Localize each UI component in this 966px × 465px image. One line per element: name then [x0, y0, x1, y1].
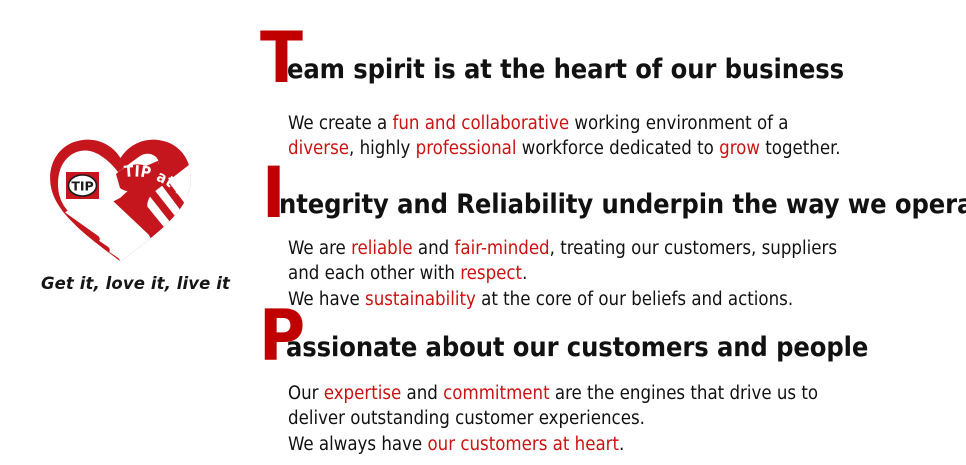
value-heading-text: assionate about our customers and people — [286, 334, 868, 361]
body-text-run: working environment of a — [569, 113, 788, 134]
body-text-run: Our — [288, 383, 324, 404]
highlighted-phrase: fun and collaborative — [392, 113, 569, 134]
value-body: Our expertise and commitment are the eng… — [288, 381, 818, 458]
body-text-run: workforce dedicated to — [516, 138, 719, 159]
value-section-team-spirit: T eam spirit is at the heart of our busi… — [255, 22, 966, 84]
highlighted-phrase: expertise — [324, 383, 401, 404]
tip-logo-block: TIP at heart TIP Get it, love it, live i… — [28, 122, 243, 307]
value-heading-text: eam spirit is at the heart of our busine… — [287, 56, 844, 83]
body-text-run: . — [619, 434, 624, 455]
heart-handshake-logo: TIP at heart TIP — [28, 122, 243, 267]
body-text-run: , highly — [349, 138, 416, 159]
heart-handshake-icon: TIP at heart TIP — [28, 122, 243, 267]
value-heading: I ntegrity and Reliability underpin the … — [255, 157, 966, 219]
highlighted-phrase: professional — [416, 138, 517, 159]
body-text-run: We create a — [288, 113, 392, 134]
tip-badge-label: TIP — [71, 179, 93, 194]
value-heading: P assionate about our customers and peop… — [255, 300, 966, 362]
highlighted-phrase: reliable — [351, 238, 413, 259]
tip-badge: TIP — [66, 172, 99, 199]
values-list: T eam spirit is at the heart of our busi… — [255, 0, 966, 465]
value-body: We create a fun and collaborative workin… — [288, 111, 841, 162]
highlighted-phrase: respect — [460, 263, 522, 284]
highlighted-phrase: grow — [719, 138, 760, 159]
value-heading: T eam spirit is at the heart of our busi… — [255, 22, 966, 84]
highlighted-phrase: commitment — [443, 383, 549, 404]
body-text-run: We are — [288, 238, 351, 259]
logo-tagline: Get it, love it, live it — [28, 274, 243, 293]
value-section-integrity: I ntegrity and Reliability underpin the … — [255, 157, 966, 219]
highlighted-phrase: fair-minded — [455, 238, 550, 259]
body-text-run: and — [413, 238, 455, 259]
highlighted-phrase: our customers at heart — [427, 434, 619, 455]
value-section-passionate: P assionate about our customers and peop… — [255, 300, 966, 362]
body-text-run: together. — [760, 138, 841, 159]
body-text-run: and — [401, 383, 443, 404]
highlighted-phrase: diverse — [288, 138, 349, 159]
value-heading-text: ntegrity and Reliability underpin the wa… — [279, 191, 966, 218]
